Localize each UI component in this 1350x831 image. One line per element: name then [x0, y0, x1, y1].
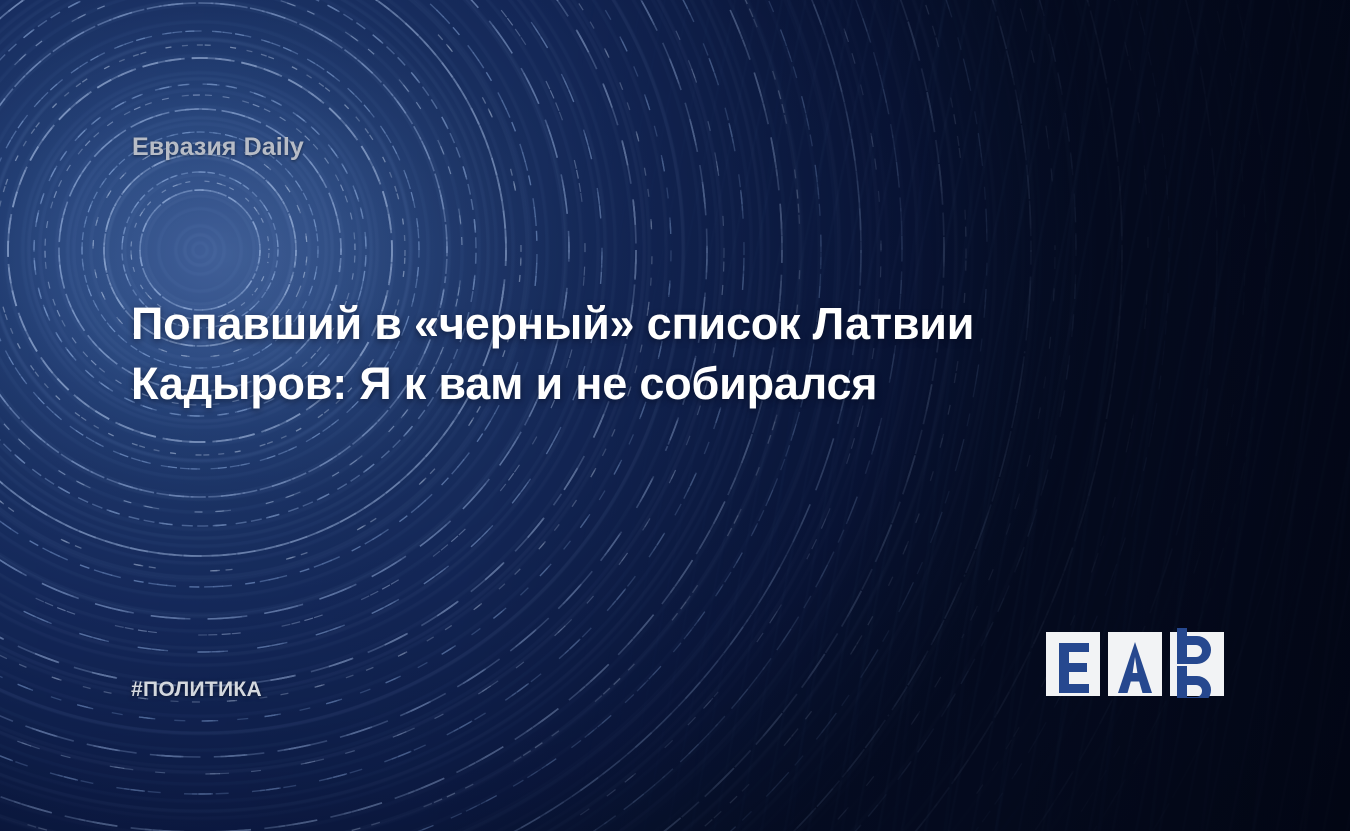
eadaily-brand-mark[interactable]	[1046, 628, 1224, 698]
category-tag-politics[interactable]: #ПОЛИТИКА	[131, 678, 262, 702]
card-content: Евразия Daily Попавший в «черный» список…	[0, 0, 1350, 831]
headline-title: Попавший в «черный» список Латвии Кадыро…	[131, 294, 1161, 414]
news-share-card: Евразия Daily Попавший в «черный» список…	[0, 0, 1350, 831]
site-logo-text[interactable]: Евразия Daily	[132, 133, 304, 162]
brand-letter-e	[1059, 643, 1089, 693]
brand-tile-a-background	[1108, 632, 1162, 696]
